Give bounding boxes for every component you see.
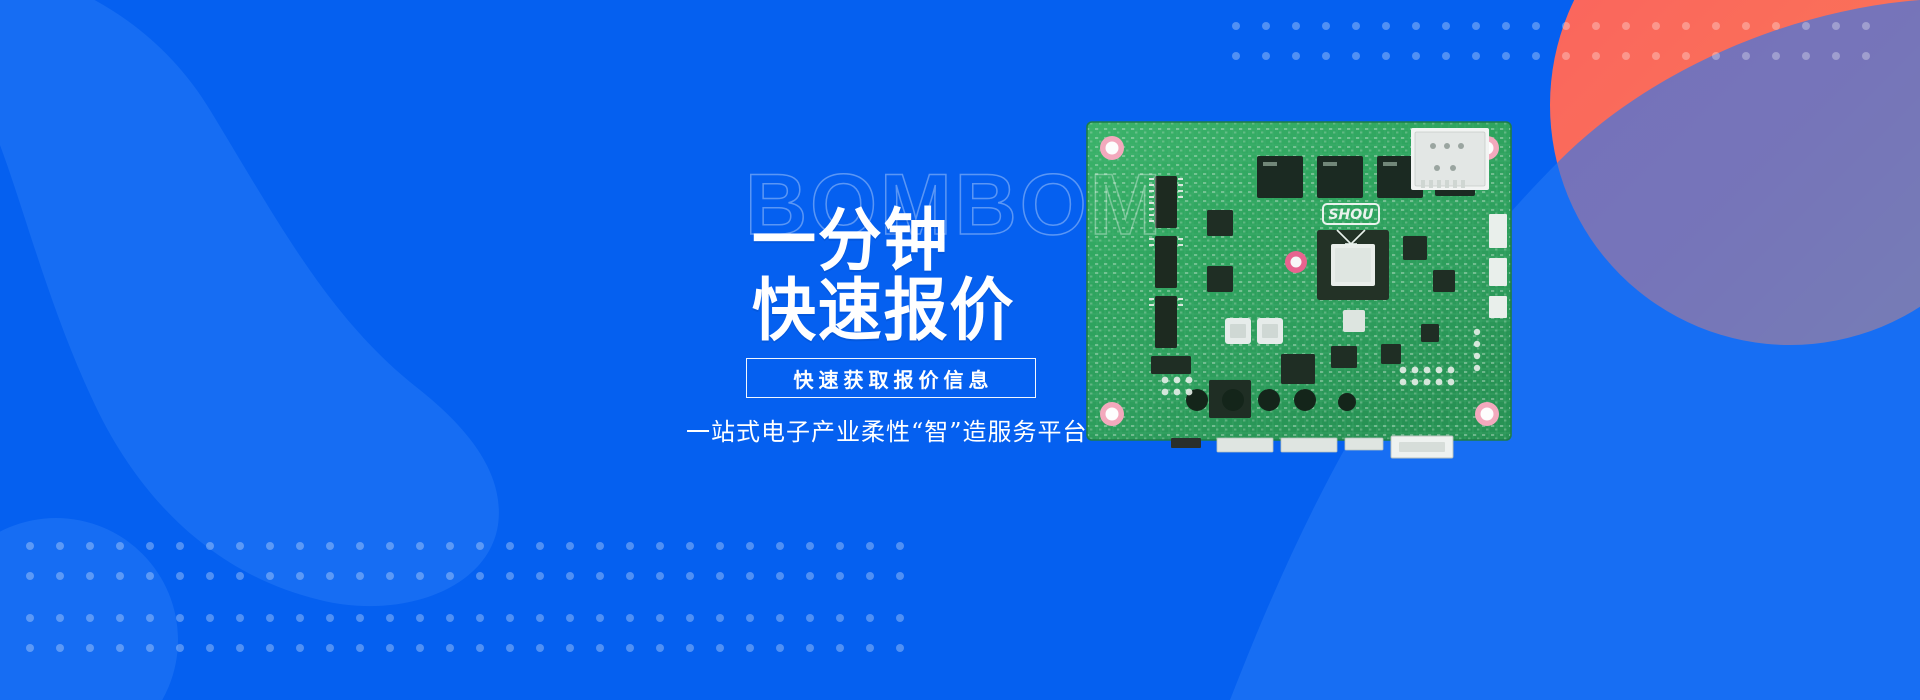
dot bbox=[1802, 52, 1810, 60]
dot bbox=[1562, 22, 1570, 30]
dot bbox=[206, 542, 214, 550]
dot bbox=[1532, 22, 1540, 30]
dot bbox=[866, 542, 874, 550]
promo-banner: SHOU bbox=[0, 0, 1920, 700]
dot bbox=[1682, 22, 1690, 30]
dot bbox=[686, 542, 694, 550]
dot bbox=[806, 572, 814, 580]
dot-row bbox=[26, 572, 926, 580]
dot bbox=[1592, 22, 1600, 30]
dot bbox=[656, 614, 664, 622]
dot bbox=[176, 644, 184, 652]
dot bbox=[86, 644, 94, 652]
headline-line-1: 一分钟 bbox=[752, 208, 949, 276]
dot-grid-bottom-left bbox=[26, 542, 926, 652]
quote-info-badge-label: 快速获取报价信息 bbox=[789, 364, 994, 393]
dot bbox=[836, 614, 844, 622]
dot bbox=[1862, 52, 1870, 60]
dot bbox=[1622, 52, 1630, 60]
dot bbox=[1652, 22, 1660, 30]
dot bbox=[416, 644, 424, 652]
dot bbox=[116, 644, 124, 652]
dot bbox=[1262, 52, 1270, 60]
dot bbox=[26, 542, 34, 550]
dot bbox=[26, 644, 34, 652]
dot bbox=[536, 644, 544, 652]
dot-row bbox=[1232, 22, 1892, 30]
dot bbox=[776, 542, 784, 550]
dot bbox=[1352, 22, 1360, 30]
dot bbox=[416, 572, 424, 580]
dot bbox=[1562, 52, 1570, 60]
dot bbox=[776, 644, 784, 652]
dot bbox=[806, 542, 814, 550]
dot bbox=[806, 614, 814, 622]
dot bbox=[716, 614, 724, 622]
dot bbox=[326, 614, 334, 622]
dot bbox=[746, 542, 754, 550]
pcb-connectors bbox=[1489, 214, 1507, 318]
dot bbox=[356, 572, 364, 580]
dot-row bbox=[26, 542, 926, 550]
dot bbox=[356, 542, 364, 550]
dot bbox=[1472, 22, 1480, 30]
dot bbox=[86, 572, 94, 580]
pcb-card-slot bbox=[1411, 128, 1489, 190]
dot bbox=[236, 614, 244, 622]
dot bbox=[536, 572, 544, 580]
headline-line-2: 快速报价 bbox=[752, 278, 1015, 346]
dot bbox=[176, 542, 184, 550]
dot bbox=[1772, 22, 1780, 30]
dot bbox=[1412, 22, 1420, 30]
dot bbox=[1502, 22, 1510, 30]
dot bbox=[176, 614, 184, 622]
dot bbox=[1412, 52, 1420, 60]
dot bbox=[26, 572, 34, 580]
dot bbox=[506, 614, 514, 622]
dot bbox=[416, 614, 424, 622]
dot bbox=[836, 572, 844, 580]
dot bbox=[746, 614, 754, 622]
dot bbox=[206, 572, 214, 580]
dot-row bbox=[1232, 52, 1892, 60]
dot bbox=[116, 572, 124, 580]
dot bbox=[1322, 22, 1330, 30]
dot bbox=[746, 572, 754, 580]
dot bbox=[596, 614, 604, 622]
platform-subtitle: 一站式电子产业柔性“智”造服务平台 bbox=[686, 412, 1088, 447]
dot bbox=[1472, 52, 1480, 60]
dot bbox=[566, 542, 574, 550]
dot bbox=[206, 614, 214, 622]
dot bbox=[116, 542, 124, 550]
dot bbox=[686, 614, 694, 622]
dot bbox=[686, 572, 694, 580]
dot bbox=[1832, 22, 1840, 30]
dot bbox=[896, 614, 904, 622]
dot bbox=[1622, 22, 1630, 30]
pcb-main-processor bbox=[1317, 230, 1389, 300]
dot bbox=[356, 614, 364, 622]
dot bbox=[626, 572, 634, 580]
dot bbox=[1232, 52, 1240, 60]
dot bbox=[236, 572, 244, 580]
dot bbox=[146, 644, 154, 652]
dot bbox=[536, 542, 544, 550]
dot bbox=[236, 542, 244, 550]
promo-text-block: BOMBOM 一分钟 快速报价 快速获取报价信息 一站式电子产业柔性“智”造服务… bbox=[640, 150, 1100, 450]
dot bbox=[476, 644, 484, 652]
dot bbox=[596, 572, 604, 580]
dot bbox=[836, 542, 844, 550]
dot bbox=[176, 572, 184, 580]
dot bbox=[596, 542, 604, 550]
dot bbox=[656, 542, 664, 550]
dot bbox=[1292, 52, 1300, 60]
dot bbox=[1742, 22, 1750, 30]
dot bbox=[446, 542, 454, 550]
dot bbox=[506, 644, 514, 652]
dot bbox=[476, 614, 484, 622]
dot bbox=[296, 542, 304, 550]
dot bbox=[476, 572, 484, 580]
dot bbox=[446, 614, 454, 622]
dot bbox=[386, 572, 394, 580]
dot bbox=[266, 542, 274, 550]
dot bbox=[56, 542, 64, 550]
dot bbox=[416, 542, 424, 550]
dot bbox=[776, 614, 784, 622]
dot bbox=[386, 542, 394, 550]
dot bbox=[446, 572, 454, 580]
dot bbox=[506, 572, 514, 580]
dot bbox=[296, 614, 304, 622]
dot bbox=[26, 614, 34, 622]
dot bbox=[1292, 22, 1300, 30]
dot bbox=[326, 644, 334, 652]
dot bbox=[1502, 52, 1510, 60]
dot bbox=[1592, 52, 1600, 60]
dot bbox=[296, 572, 304, 580]
dot bbox=[866, 644, 874, 652]
dot bbox=[296, 644, 304, 652]
dot bbox=[1322, 52, 1330, 60]
dot bbox=[656, 572, 664, 580]
dot bbox=[386, 644, 394, 652]
dot bbox=[1352, 52, 1360, 60]
dot bbox=[626, 542, 634, 550]
dot bbox=[896, 572, 904, 580]
dot bbox=[566, 572, 574, 580]
dot bbox=[86, 614, 94, 622]
dot bbox=[1802, 22, 1810, 30]
dot bbox=[1772, 52, 1780, 60]
dot bbox=[146, 614, 154, 622]
dot bbox=[1652, 52, 1660, 60]
dot bbox=[266, 572, 274, 580]
dot bbox=[656, 644, 664, 652]
dot-grid-top-right bbox=[1232, 22, 1892, 60]
dot bbox=[776, 572, 784, 580]
dot bbox=[1262, 22, 1270, 30]
dot bbox=[1682, 52, 1690, 60]
quote-info-badge[interactable]: 快速获取报价信息 bbox=[746, 358, 1036, 398]
dot bbox=[1862, 22, 1870, 30]
dot bbox=[566, 644, 574, 652]
dot bbox=[86, 542, 94, 550]
dot bbox=[836, 644, 844, 652]
dot bbox=[326, 572, 334, 580]
dot bbox=[1382, 52, 1390, 60]
dot bbox=[56, 614, 64, 622]
dot bbox=[1382, 22, 1390, 30]
dot bbox=[596, 644, 604, 652]
dot bbox=[626, 614, 634, 622]
dot bbox=[1832, 52, 1840, 60]
dot bbox=[716, 542, 724, 550]
dot bbox=[566, 614, 574, 622]
dot bbox=[866, 572, 874, 580]
dot bbox=[206, 644, 214, 652]
dot bbox=[866, 614, 874, 622]
dot bbox=[1442, 52, 1450, 60]
dot bbox=[266, 644, 274, 652]
dot-row bbox=[26, 644, 926, 652]
dot bbox=[1232, 22, 1240, 30]
dot-row bbox=[26, 614, 926, 622]
dot bbox=[266, 614, 274, 622]
dot bbox=[746, 644, 754, 652]
dot bbox=[1712, 22, 1720, 30]
dot bbox=[686, 644, 694, 652]
dot bbox=[116, 614, 124, 622]
dot bbox=[1742, 52, 1750, 60]
dot bbox=[536, 614, 544, 622]
dot bbox=[896, 644, 904, 652]
dot bbox=[506, 542, 514, 550]
dot bbox=[236, 644, 244, 652]
dot bbox=[146, 572, 154, 580]
dot bbox=[1712, 52, 1720, 60]
dot bbox=[1532, 52, 1540, 60]
svg-text:SHOU: SHOU bbox=[1328, 207, 1374, 223]
dot bbox=[626, 644, 634, 652]
dot bbox=[806, 644, 814, 652]
dot bbox=[716, 572, 724, 580]
dot bbox=[56, 644, 64, 652]
dot bbox=[56, 572, 64, 580]
dot bbox=[386, 614, 394, 622]
dot bbox=[476, 542, 484, 550]
dot bbox=[326, 542, 334, 550]
dot bbox=[356, 644, 364, 652]
dot bbox=[1442, 22, 1450, 30]
dot bbox=[716, 644, 724, 652]
dot bbox=[446, 644, 454, 652]
dot bbox=[896, 542, 904, 550]
dot bbox=[146, 542, 154, 550]
